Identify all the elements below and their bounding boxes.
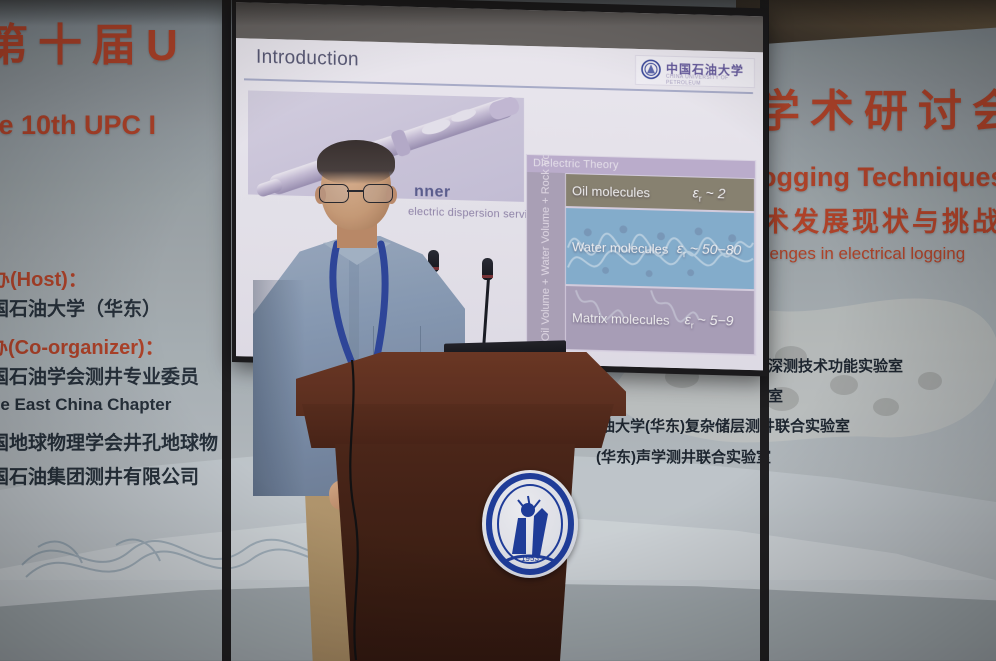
water-molecule-graphic xyxy=(566,208,754,290)
photo-scene: 第十届U he 10th UPC I 学术研讨会 ogging Techniqu… xyxy=(0,0,996,661)
dielectric-row-matrix: Matrix molecules εr ~ 5−9 xyxy=(565,285,755,355)
banner-title-cn: 第十届U xyxy=(0,24,188,68)
photo-top-shadow xyxy=(0,0,996,26)
dielectric-row-oil: Oil molecules εr ~ 2 xyxy=(565,173,755,212)
slide-university-logo: 中国石油大学 CHINA UNIVERSITY OF PETROLEUM xyxy=(635,55,755,88)
porosity-label: Porosity = Oil Volume + Water Volume + R… xyxy=(540,154,552,356)
slide-logo-en: CHINA UNIVERSITY OF PETROLEUM xyxy=(666,74,754,88)
emblem-artwork: 1953 xyxy=(482,470,578,578)
banner-host-name: 国石油大学（华东） xyxy=(0,294,161,321)
banner-coorganizer-item: 国石油集团测井有限公司 xyxy=(0,462,199,489)
speaker-hair xyxy=(317,140,395,184)
screen-frame-post-left xyxy=(222,0,231,661)
emblem-year-text: 1953 xyxy=(521,554,539,563)
banner-title-en-right: ogging Techniques xyxy=(760,162,996,193)
banner-title-cn-right: 学术研讨会 xyxy=(756,90,996,134)
banner-host-label: 办(Host)： xyxy=(0,263,88,292)
dielectric-row-water: Water molecules εr ~ 50−80 xyxy=(565,207,755,290)
podium-university-emblem: 1953 xyxy=(482,470,578,578)
banner-title-en: he 10th UPC I xyxy=(0,110,156,141)
glasses-lens-left xyxy=(319,184,349,203)
banner-subtitle-en: llenges in electrical logging xyxy=(762,244,965,264)
row-name: Oil molecules xyxy=(572,183,670,201)
banner-coorganizer-item: 国地球物理学会井孔地球物 xyxy=(0,428,218,455)
banner-lab-item: 深测技术功能实验室 xyxy=(768,355,903,376)
porosity-axis-label-wrap: Porosity = Oil Volume + Water Volume + R… xyxy=(527,172,565,350)
banner-lab-item: 油大学(华东)复杂储层测井联合实验室 xyxy=(600,415,850,436)
banner-coorganizer-item: he East China Chapter xyxy=(0,395,171,415)
banner-lab-item: 室 xyxy=(768,385,783,406)
banner-coorganizer-label: 办(Co-organizer)： xyxy=(0,331,165,360)
dielectric-rows: Oil molecules εr ~ 2 Water mol xyxy=(565,173,755,355)
slide-title: Introduction xyxy=(256,47,359,72)
glasses-bridge xyxy=(347,190,363,192)
eyeglasses xyxy=(317,184,397,202)
row-epsilon: εr ~ 2 xyxy=(670,183,748,204)
glasses-lens-right xyxy=(363,184,393,203)
banner-coorganizer-item: 国石油学会测井专业委员 xyxy=(0,362,199,389)
matrix-molecule-graphic xyxy=(566,286,754,350)
banner-subtitle-cn: 术发展现状与挑战 xyxy=(762,200,996,239)
dielectric-theory-panel: Dielectric Theory Porosity = Oil Volume … xyxy=(526,154,756,356)
floor-cable xyxy=(300,360,390,661)
